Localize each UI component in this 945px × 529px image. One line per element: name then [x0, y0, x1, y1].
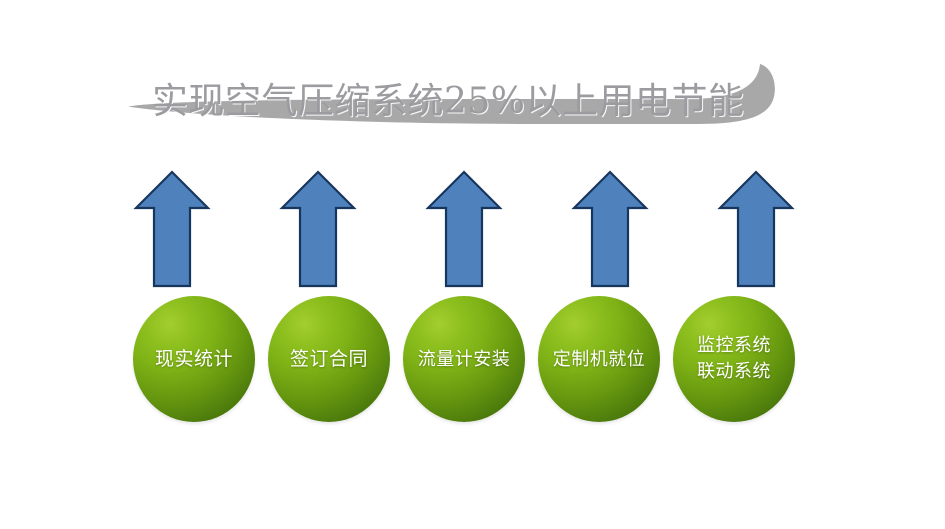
arrow-up-icon-3 — [425, 168, 503, 294]
process-step-label: 现实统计 — [153, 347, 235, 372]
arrow-up-icon — [279, 168, 357, 290]
process-step-circle-5[interactable]: 监控系统 联动系统 — [673, 296, 795, 422]
arrow-up-icon-5 — [717, 168, 795, 294]
process-step-circle-4[interactable]: 定制机就位 — [538, 296, 660, 422]
process-step-circle-2[interactable]: 签订合同 — [268, 296, 390, 422]
arrows-row — [133, 168, 795, 294]
arrow-up-icon — [425, 168, 503, 290]
process-step-circle-3[interactable]: 流量计安装 — [403, 296, 525, 422]
title-banner: 实现空气压缩系统25%以上用电节能 — [128, 34, 788, 146]
process-step-circle-1[interactable]: 现实统计 — [133, 296, 255, 422]
arrow-up-icon-4 — [571, 168, 649, 294]
arrow-up-icon-2 — [279, 168, 357, 294]
circles-row: 现实统计 签订合同 流量计安装 定制机就位 监控系统 联动系统 — [133, 296, 795, 426]
process-step-label: 定制机就位 — [551, 347, 648, 372]
process-step-label: 签订合同 — [288, 347, 370, 372]
arrow-up-icon — [717, 168, 795, 290]
process-step-label: 流量计安装 — [416, 347, 513, 372]
slide-canvas: 实现空气压缩系统25%以上用电节能 — [0, 0, 945, 529]
arrow-up-icon — [133, 168, 211, 290]
arrow-up-icon-1 — [133, 168, 211, 294]
page-title: 实现空气压缩系统25%以上用电节能 — [152, 78, 732, 126]
arrow-up-icon — [571, 168, 649, 290]
process-step-label: 监控系统 联动系统 — [695, 333, 773, 385]
